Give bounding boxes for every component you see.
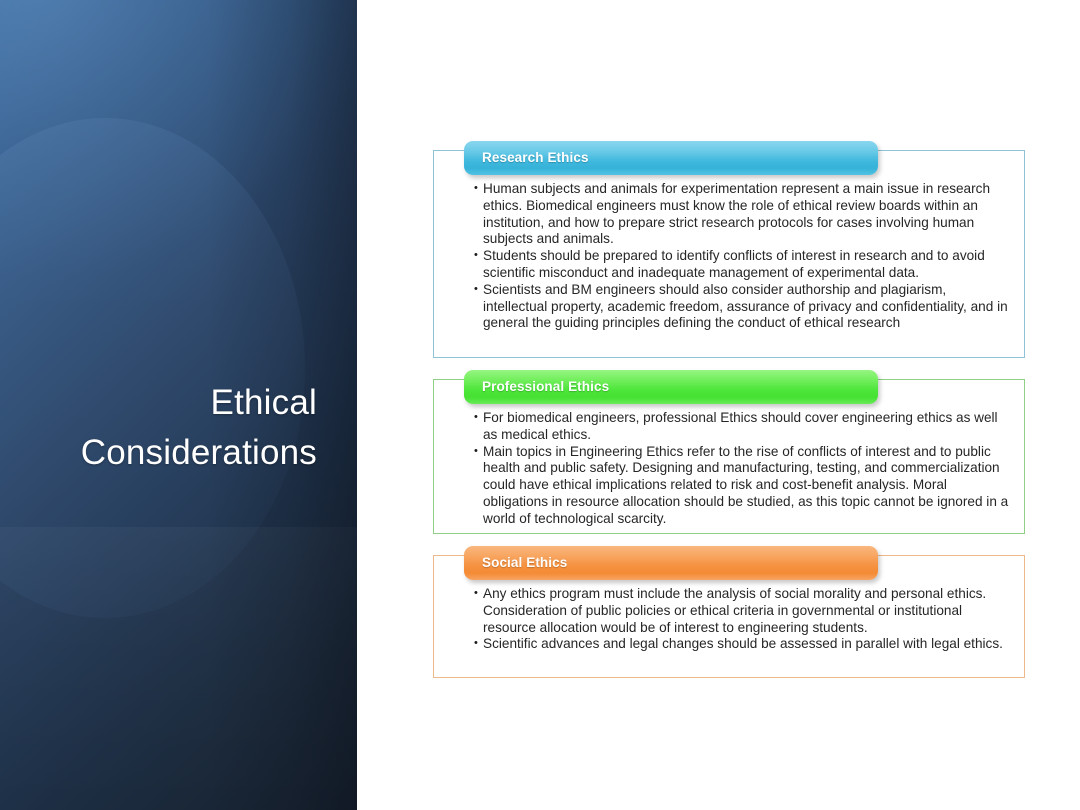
presentation-slide: Ethical Considerations Human subjects an… [0,0,1080,810]
slide-title: Ethical Considerations [27,378,317,477]
section-header-social-ethics: Social Ethics [464,546,878,580]
list-item: Scientists and BM engineers should also … [474,282,1010,332]
section-header-professional-ethics: Professional Ethics [464,370,878,404]
section-header-research-ethics: Research Ethics [464,141,878,175]
list-item: For biomedical engineers, professional E… [474,410,1010,444]
panel-glow-decoration [0,0,357,300]
list-item: Human subjects and animals for experimen… [474,181,1010,248]
bullet-list-social-ethics: Any ethics program must include the anal… [474,586,1010,653]
list-item: Students should be prepared to identify … [474,248,1010,282]
panel-band-decoration [0,527,357,810]
bullet-list-professional-ethics: For biomedical engineers, professional E… [474,410,1010,528]
list-item: Scientific advances and legal changes sh… [474,636,1010,653]
list-item: Any ethics program must include the anal… [474,586,1010,636]
section-header-label: Professional Ethics [482,370,609,404]
title-panel: Ethical Considerations [0,0,357,810]
section-header-label: Social Ethics [482,546,567,580]
section-research-ethics: Human subjects and animals for experimen… [433,150,1025,358]
section-header-label: Research Ethics [482,141,589,175]
panel-circle-decoration [0,118,305,618]
content-area: Human subjects and animals for experimen… [357,0,1080,810]
bullet-list-research-ethics: Human subjects and animals for experimen… [474,181,1010,332]
list-item: Main topics in Engineering Ethics refer … [474,444,1010,528]
